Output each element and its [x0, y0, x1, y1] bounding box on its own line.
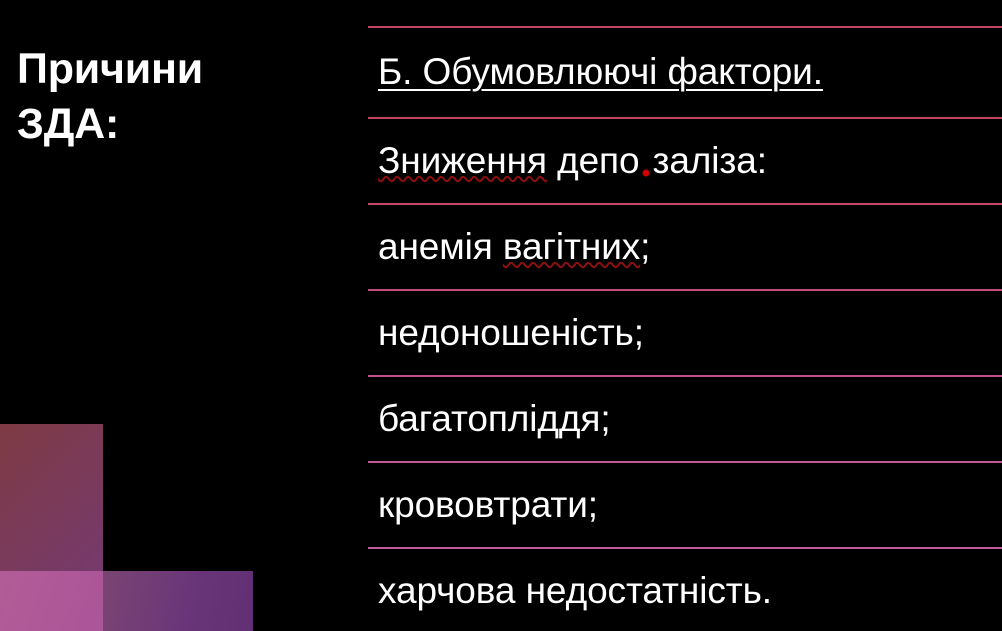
- list-item-subheading-text: Зниження депозаліза:: [368, 141, 767, 182]
- spellcheck-word: вагітних: [503, 226, 640, 267]
- content-list: Б. Обумовлюючі фактори. Зниження депозал…: [368, 26, 1002, 631]
- slide-canvas: Причини ЗДА: Б. Обумовлюючі фактори. Зни…: [0, 0, 1002, 631]
- gradient-block-lower-right: [103, 571, 253, 631]
- list-item-text: крововтрати;: [368, 485, 598, 526]
- gradient-block-upper: [0, 424, 103, 571]
- list-item-heading-text: Б. Обумовлюючі фактори.: [368, 52, 823, 93]
- list-item-text: багатопліддя;: [368, 399, 611, 440]
- item-1-suffix: ;: [640, 226, 650, 267]
- list-item: Зниження депозаліза:: [368, 117, 1002, 203]
- list-item: крововтрати;: [368, 461, 1002, 547]
- gradient-block-lower-left: [0, 571, 103, 631]
- subheading-word-2: [547, 140, 557, 181]
- item-1-prefix: анемія: [378, 226, 503, 267]
- list-item-text: недоношеність;: [368, 313, 644, 354]
- subheading-word-zaliza: заліза:: [652, 140, 766, 181]
- spellcheck-word: Зниження: [378, 140, 547, 181]
- list-item: анемія вагітних;: [368, 203, 1002, 289]
- list-item-text: харчова недостатність.: [368, 571, 772, 612]
- list-item: Б. Обумовлюючі фактори.: [368, 26, 1002, 117]
- list-item-text: анемія вагітних;: [368, 227, 650, 268]
- subheading-word-depo: депо: [557, 140, 639, 181]
- list-item: недоношеність;: [368, 289, 1002, 375]
- list-item: багатопліддя;: [368, 375, 1002, 461]
- list-item: харчова недостатність.: [368, 547, 1002, 631]
- page-title: Причини ЗДА:: [17, 42, 347, 152]
